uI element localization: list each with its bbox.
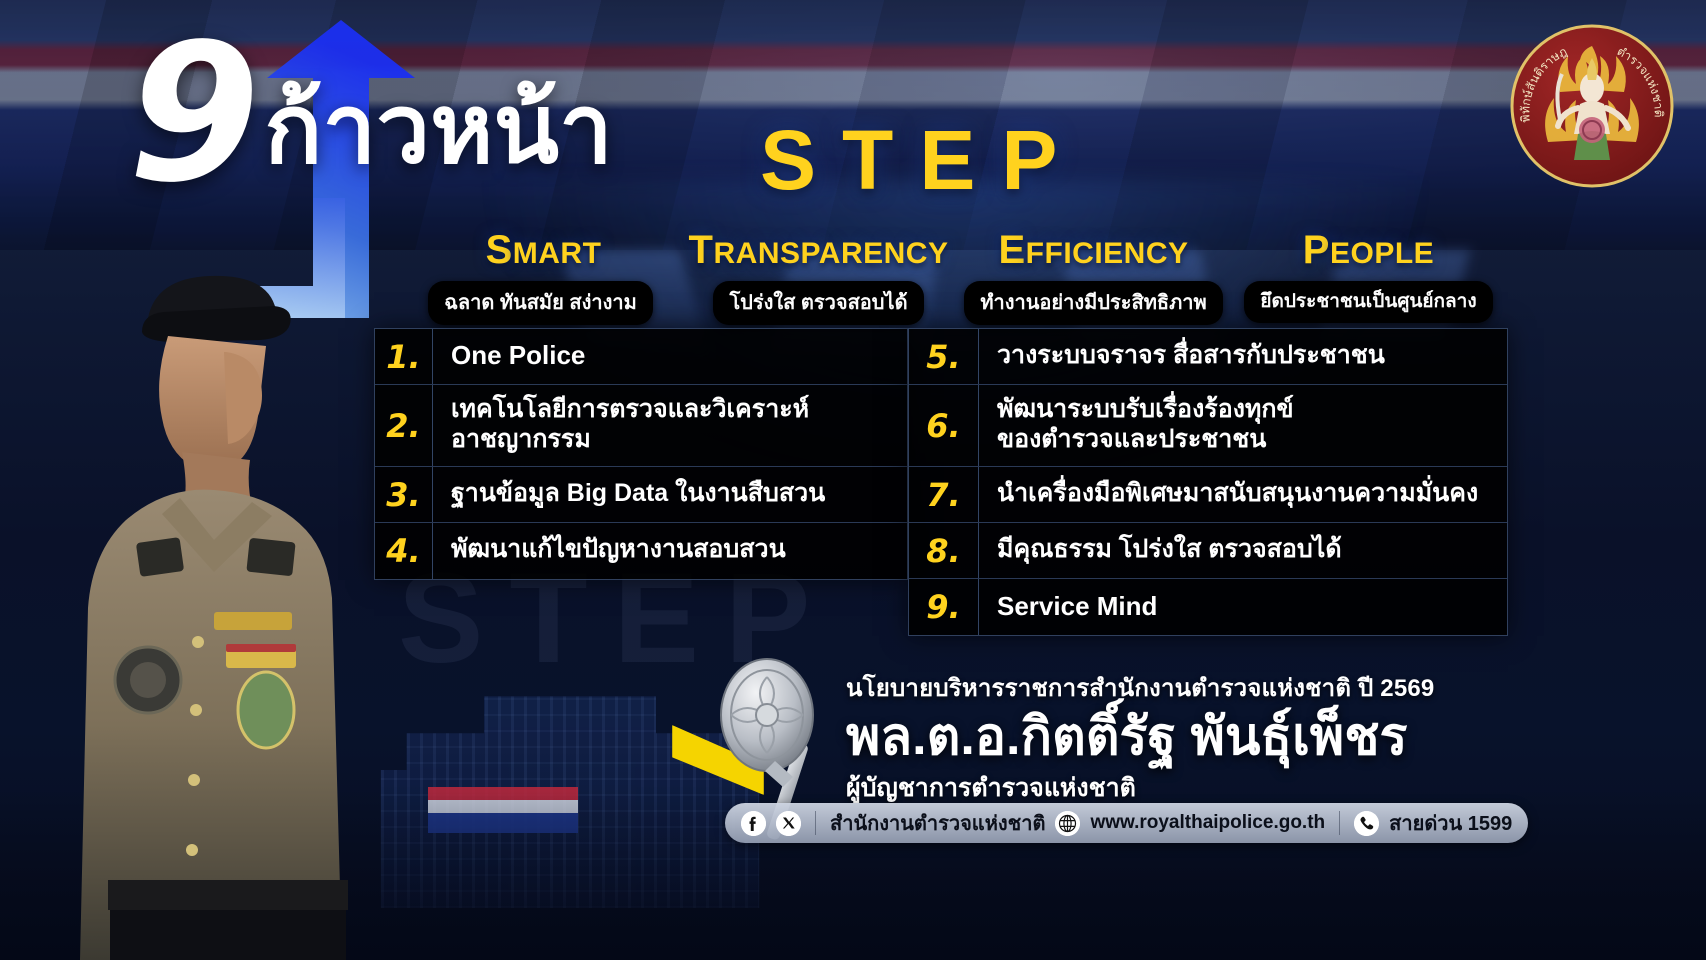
step-pill-smart: ฉลาด ทันสมัย สง่างาม — [428, 281, 653, 325]
step-column-transparency: TRANSPARENCY โปร่งใส ตรวจสอบได้ — [681, 228, 956, 318]
policy-row: 7.นำเครื่องมือพิเศษมาสนับสนุนงานความมั่น… — [909, 467, 1507, 523]
step-column-smart: SMART ฉลาด ทันสมัย สง่างาม — [406, 228, 681, 318]
policy-row: 1.One Police — [375, 329, 907, 385]
step-rest-efficiency: FFICIENCY — [1026, 237, 1189, 270]
x-twitter-icon[interactable] — [776, 811, 801, 836]
commissioner-name: พล.ต.อ.กิตติ์รัฐ พันธุ์เพ็ชร — [846, 708, 1434, 766]
headline-number: 9 — [128, 36, 260, 192]
infographic-poster: STEP 9 ก้าวหน้า STEP SMART ฉลาด ทันสมัย … — [0, 0, 1706, 960]
footer-divider-1 — [815, 811, 816, 835]
step-column-people: PEOPLE ยึดประชาชนเป็นศูนย์กลาง — [1231, 228, 1506, 318]
step-columns: SMART ฉลาด ทันสมัย สง่างาม TRANSPARENCY … — [406, 228, 1506, 318]
policy-row-number: 8. — [909, 523, 979, 578]
royal-thai-police-emblem-icon: พิทักษ์สันติราษฎร์ ตำรวจแห่งชาติ — [1508, 22, 1676, 190]
step-title: STEP — [760, 112, 1083, 209]
policy-row: 4.พัฒนาแก้ไขปัญหางานสอบสวน — [375, 523, 907, 579]
step-pill-people: ยึดประชาชนเป็นศูนย์กลาง — [1244, 281, 1492, 323]
step-pill-efficiency: ทำงานอย่างมีประสิทธิภาพ — [964, 281, 1222, 325]
policy-list-right: 5.วางระบบจราจร สื่อสารกับประชาชน6.พัฒนาร… — [908, 328, 1508, 636]
policy-row-number: 1. — [375, 329, 433, 384]
policy-row-text: มีคุณธรรม โปร่งใส ตรวจสอบได้ — [979, 527, 1354, 575]
policy-row-text: พัฒนาระบบรับเรื่องร้องทุกข์ของตำรวจและปร… — [979, 387, 1306, 464]
policy-row: 8.มีคุณธรรม โปร่งใส ตรวจสอบได้ — [909, 523, 1507, 579]
policy-row: 2.เทคโนโลยีการตรวจและวิเคราะห์อาชญากรรม — [375, 385, 907, 467]
policy-year-line: นโยบายบริหารราชการสำนักงานตำรวจแห่งชาติ … — [846, 668, 1434, 707]
step-cap-t: T — [689, 228, 714, 272]
step-word-smart: SMART — [486, 228, 602, 273]
policy-row-text: ฐานข้อมูล Big Data ในงานสืบสวน — [433, 471, 837, 519]
policy-row-number: 4. — [375, 523, 433, 579]
signature-block: นโยบายบริหารราชการสำนักงานตำรวจแห่งชาติ … — [846, 668, 1434, 808]
footer-divider-2 — [1339, 811, 1340, 835]
policy-row: 9.Service Mind — [909, 579, 1507, 635]
step-rest-smart: MART — [513, 237, 602, 270]
step-cap-s: S — [486, 228, 513, 272]
step-word-efficiency: EFFICIENCY — [998, 228, 1188, 273]
step-cap-e: E — [998, 228, 1025, 272]
footer-social-name: สำนักงานตำรวจแห่งชาติ — [830, 807, 1045, 839]
policy-row-number: 7. — [909, 467, 979, 522]
step-word-transparency: TRANSPARENCY — [689, 228, 949, 273]
policy-row-text: One Police — [433, 332, 597, 381]
policy-row-text: Service Mind — [979, 583, 1169, 632]
step-pill-transparency: โปร่งใส ตรวจสอบได้ — [713, 281, 923, 325]
police-officer-photo — [30, 240, 410, 960]
headline: 9 ก้าวหน้า — [128, 36, 613, 192]
policy-list-left: 1.One Police2.เทคโนโลยีการตรวจและวิเคราะ… — [374, 328, 908, 580]
step-rest-transparency: RANSPARENCY — [713, 237, 948, 270]
step-column-efficiency: EFFICIENCY ทำงานอย่างมีประสิทธิภาพ — [956, 228, 1231, 318]
footer-website[interactable]: www.royalthaipolice.go.th — [1090, 812, 1325, 834]
phone-icon[interactable] — [1354, 811, 1379, 836]
policy-row-number: 5. — [909, 329, 979, 384]
policy-row-number: 9. — [909, 579, 979, 635]
headline-thai: ก้าวหน้า — [264, 82, 613, 178]
step-cap-p: P — [1303, 228, 1330, 272]
policy-row-text: วางระบบจราจร สื่อสารกับประชาชน — [979, 333, 1397, 381]
footer-contact-bar: สำนักงานตำรวจแห่งชาติ www.royalthaipolic… — [725, 803, 1528, 843]
globe-icon[interactable] — [1055, 811, 1080, 836]
policy-row-number: 6. — [909, 385, 979, 466]
step-word-people: PEOPLE — [1303, 228, 1434, 273]
policy-row: 5.วางระบบจราจร สื่อสารกับประชาชน — [909, 329, 1507, 385]
policy-row-number: 2. — [375, 385, 433, 466]
facebook-icon[interactable] — [741, 811, 766, 836]
footer-hotline: สายด่วน 1599 — [1389, 807, 1512, 839]
policy-row: 6.พัฒนาระบบรับเรื่องร้องทุกข์ของตำรวจและ… — [909, 385, 1507, 467]
policy-row-text: นำเครื่องมือพิเศษมาสนับสนุนงานความมั่นคง — [979, 471, 1490, 519]
policy-row-number: 3. — [375, 467, 433, 522]
step-rest-people: EOPLE — [1330, 237, 1434, 270]
policy-row-text: เทคโนโลยีการตรวจและวิเคราะห์อาชญากรรม — [433, 387, 821, 464]
policy-row-text: พัฒนาแก้ไขปัญหางานสอบสวน — [433, 527, 798, 575]
policy-row: 3.ฐานข้อมูล Big Data ในงานสืบสวน — [375, 467, 907, 523]
